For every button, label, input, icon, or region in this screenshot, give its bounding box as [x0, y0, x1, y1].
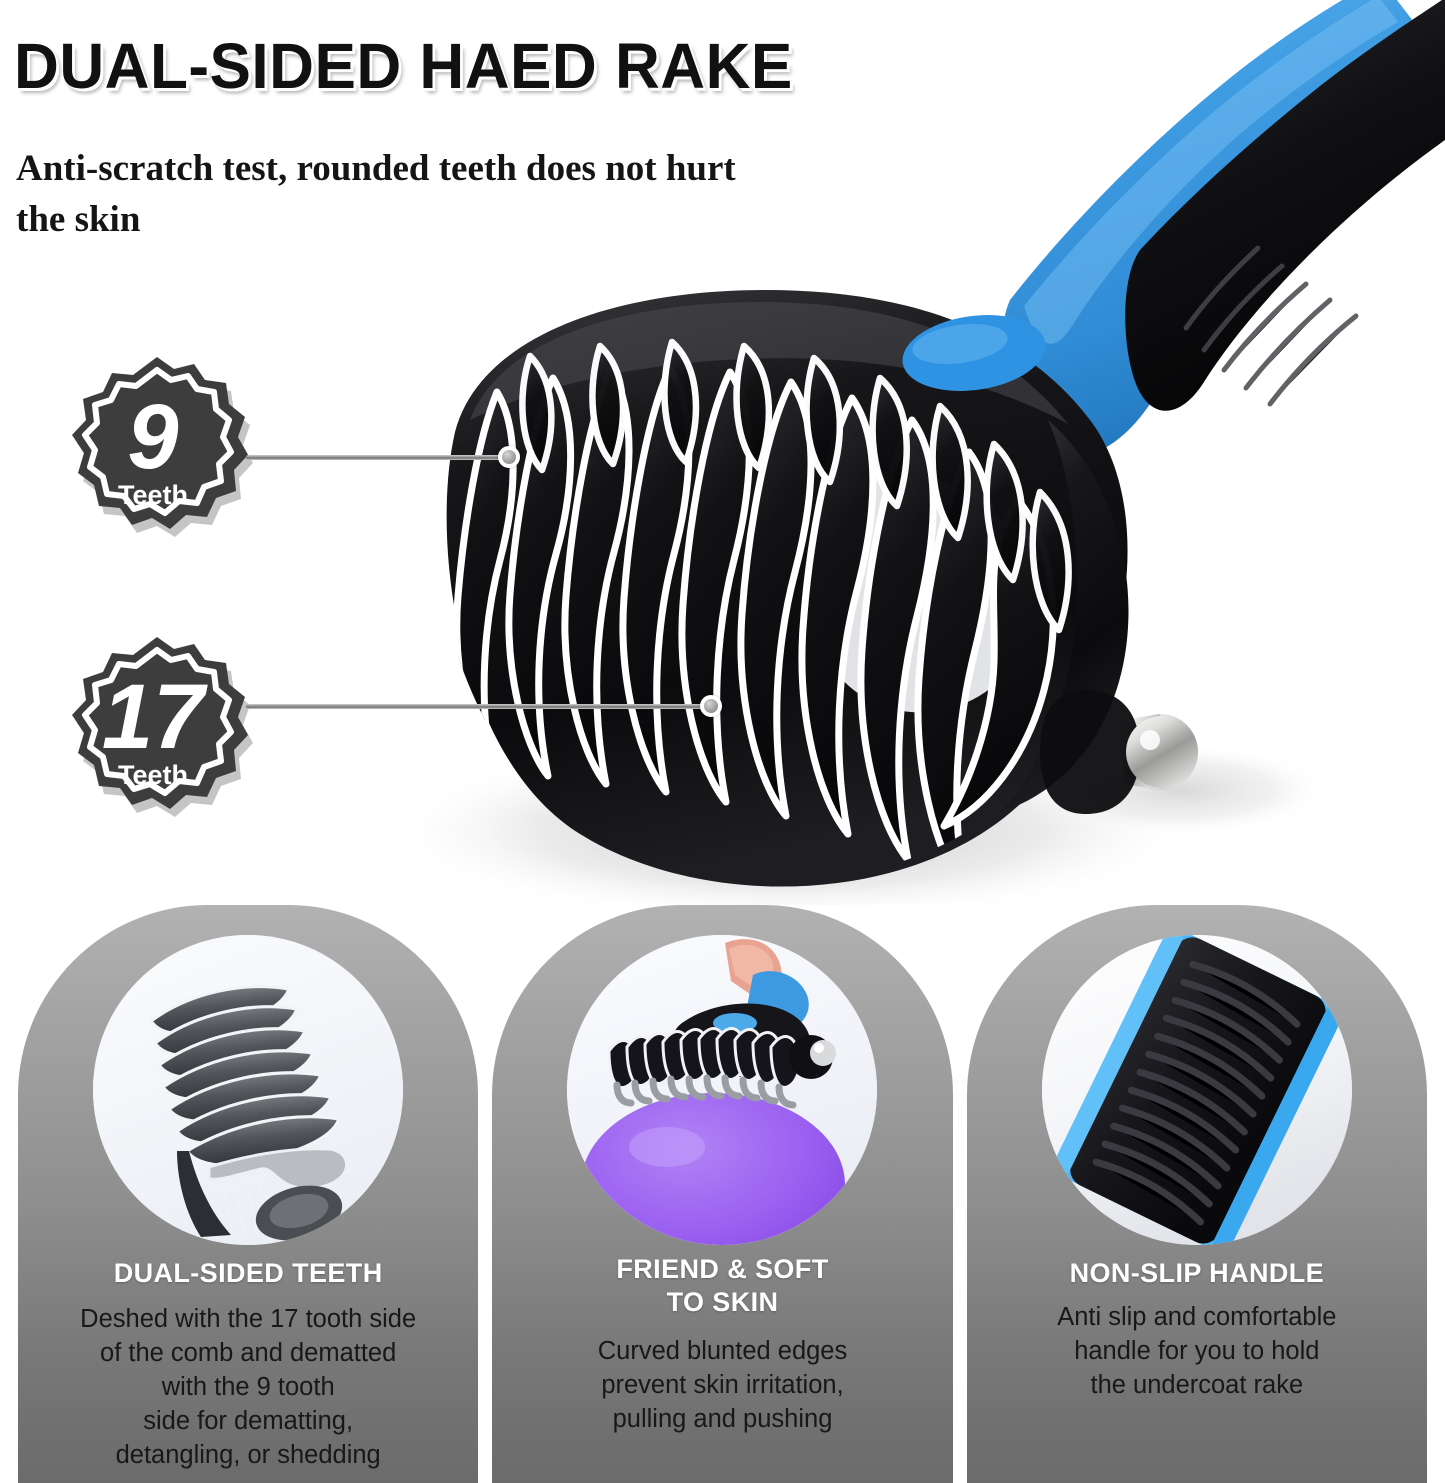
badge-caption: Teeth	[118, 480, 188, 510]
photo-non-slip-handle	[1042, 935, 1352, 1245]
panel-body: Curved blunted edges prevent skin irrita…	[492, 1335, 952, 1437]
leader-dot-nine-teeth	[498, 446, 520, 468]
panel-title: NON-SLIP HANDLE	[967, 1257, 1427, 1290]
leader-line-nine-teeth	[246, 455, 514, 460]
panel-dual-sided-teeth: DUAL-SIDED TEETH Deshed with the 17 toot…	[18, 905, 478, 1483]
panel-title: FRIEND & SOFT TO SKIN	[492, 1253, 952, 1319]
panel-non-slip-handle: NON-SLIP HANDLE Anti slip and comfortabl…	[967, 905, 1427, 1483]
panel-friend-soft-to-skin: FRIEND & SOFT TO SKIN Curved blunted edg…	[492, 905, 952, 1483]
photo-dual-sided-teeth	[93, 935, 403, 1245]
page-subtitle: Anti-scratch test, rounded teeth does no…	[16, 143, 776, 245]
photo-friend-soft-to-skin	[567, 935, 877, 1245]
panel-title: DUAL-SIDED TEETH	[18, 1257, 478, 1290]
hero-section: DUAL-SIDED HAED RAKE Anti-scratch test, …	[0, 0, 1445, 905]
leader-dot-seventeen-teeth	[700, 695, 722, 717]
panel-body: Deshed with the 17 tooth side of the com…	[18, 1303, 478, 1473]
badge-number: 9	[127, 386, 178, 488]
feature-panels: DUAL-SIDED TEETH Deshed with the 17 toot…	[0, 905, 1445, 1483]
leader-line-seventeen-teeth	[246, 704, 714, 709]
panel-body: Anti slip and comfortable handle for you…	[967, 1301, 1427, 1403]
chrome-bolt-head	[1126, 716, 1198, 788]
badge-number: 17	[102, 666, 208, 768]
badge-seventeen-teeth: 17 Teeth	[58, 632, 248, 822]
badge-caption: Teeth	[118, 760, 188, 790]
page-title: DUAL-SIDED HAED RAKE	[14, 34, 793, 98]
badge-nine-teeth: 9 Teeth	[58, 352, 248, 542]
